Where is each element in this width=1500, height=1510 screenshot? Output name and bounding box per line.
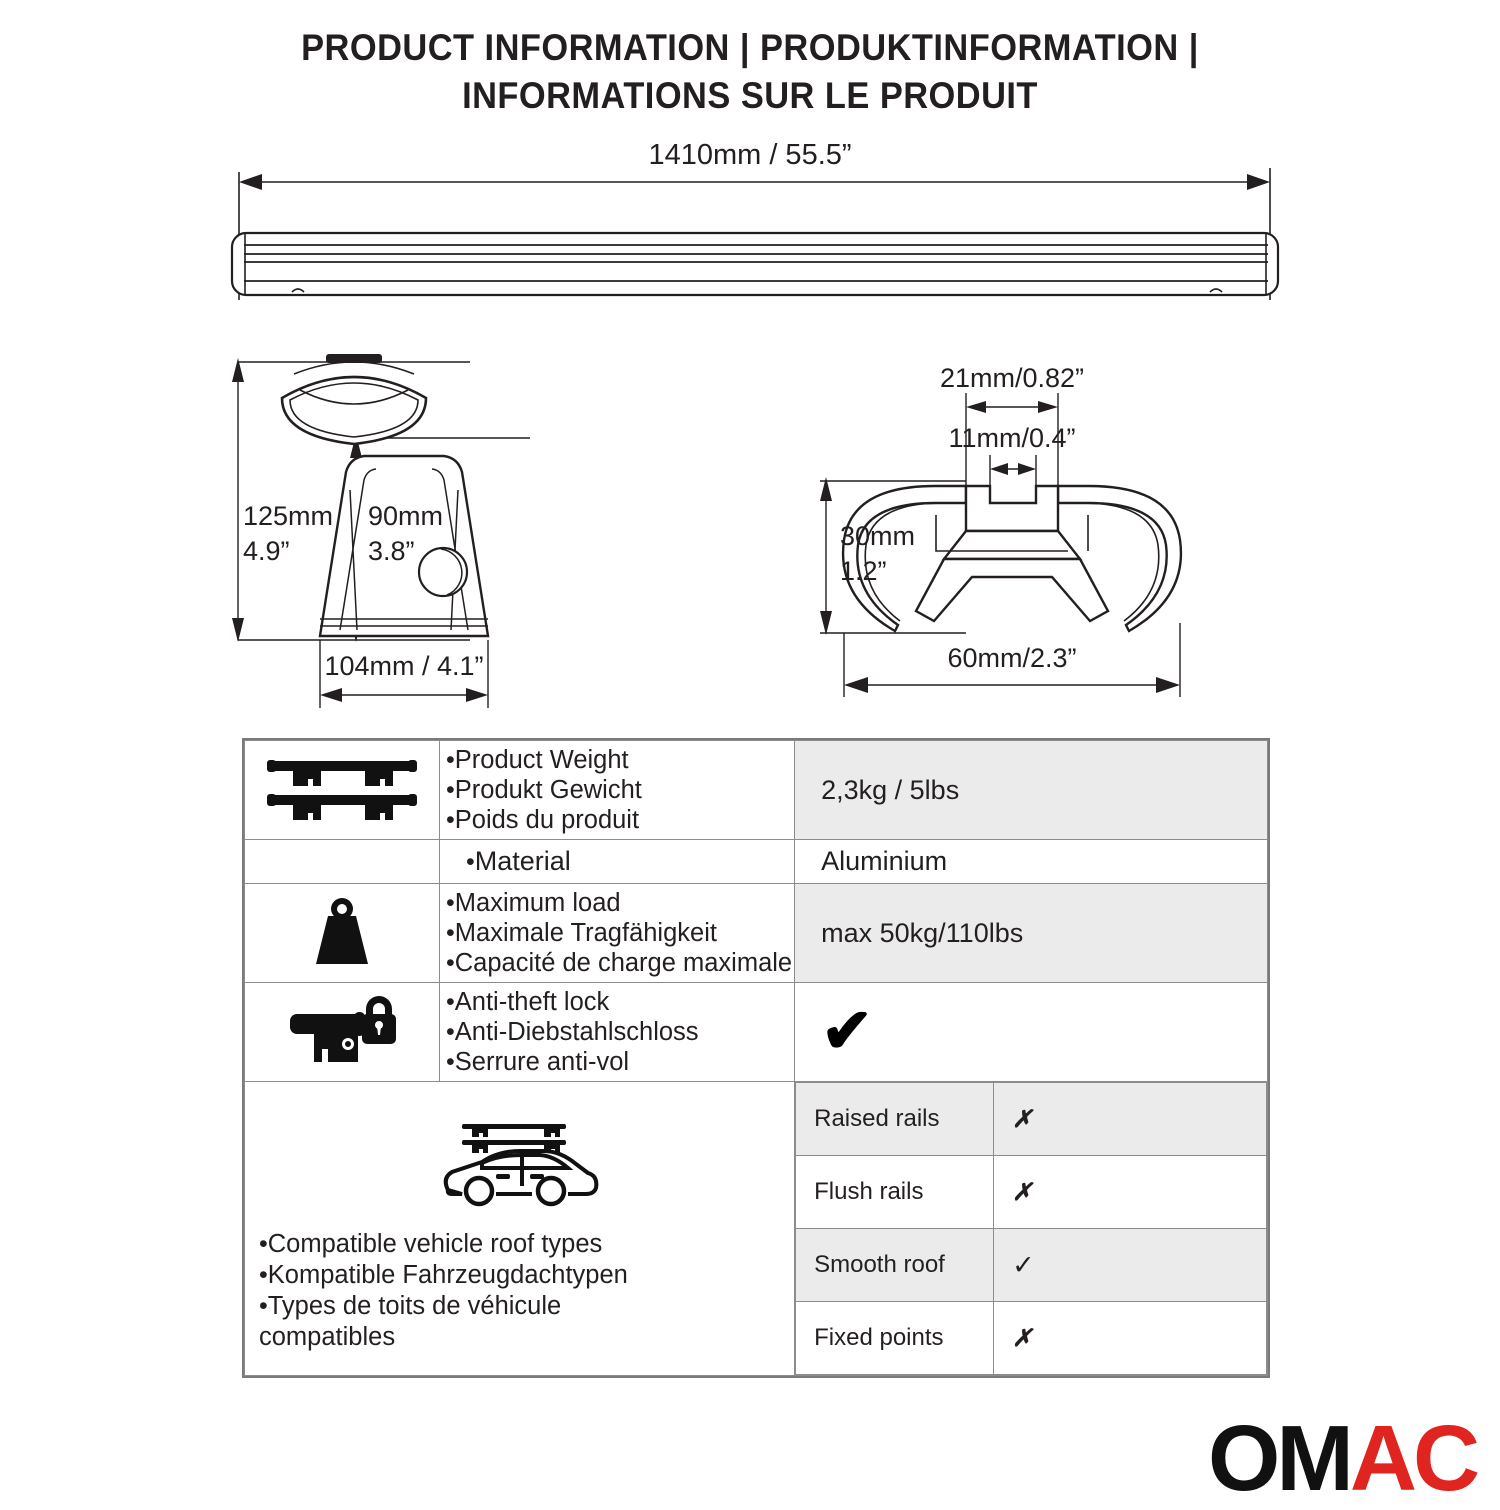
foot-inner-height-inch-label: 3.8” [368,536,415,566]
label-text: Product Weight [455,746,629,774]
roof-type-mark: ✗ [994,1156,1267,1229]
roof-type-row: Raised rails ✗ [796,1083,1267,1156]
material-value: Aluminium [795,840,1268,884]
roof-types-subtable-cell: Raised rails ✗ Flush rails ✗ Smooth roof… [795,1082,1268,1376]
foot-front-view-drawing: 125mm 4.9” 90mm 3.8” 104mm / 4.1” [0,340,760,760]
lock-icon-cell [245,983,440,1082]
logo-text-red: AC [1350,1406,1476,1510]
label-text: Kompatible Fahrzeugdachtypen [268,1261,628,1289]
omac-logo: OMAC [1208,1412,1476,1505]
roof-type-name: Raised rails [796,1083,994,1156]
table-row: •Material Aluminium [245,840,1268,884]
roof-type-row: Flush rails ✗ [796,1156,1267,1229]
roof-type-name: Smooth roof [796,1229,994,1302]
roof-type-row: Fixed points ✗ [796,1302,1267,1375]
crossbars-icon-cell [245,741,440,840]
table-row: •Product Weight •Produkt Gewicht •Poids … [245,741,1268,840]
check-icon: ✓ [1012,1250,1035,1280]
label-text: Maximum load [455,889,621,917]
cross-icon: ✗ [1012,1106,1032,1133]
material-labels-cell: •Material [440,840,795,884]
roof-type-mark: ✗ [994,1302,1267,1375]
bar-length-drawing: 1410mm / 55.5” [0,0,1500,330]
maxload-labels-cell: •Maximum load •Maximale Tragfähigkeit •C… [440,884,795,983]
table-row: •Maximum load •Maximale Tragfähigkeit •C… [245,884,1268,983]
bar-length-label: 1410mm / 55.5” [648,139,851,171]
label-text: Capacité de charge maximale [455,949,792,977]
label-text: Anti-Diebstahlschloss [455,1018,699,1046]
arrow-left-icon-3 [320,688,342,702]
label-text: Produkt Gewicht [455,776,642,804]
roof-type-row: Smooth roof ✓ [796,1229,1267,1302]
roof-type-name: Flush rails [796,1156,994,1229]
roof-types-labels-cell: •Compatible vehicle roof types •Kompatib… [245,1082,795,1376]
profile-height-mm-label: 30mm [840,521,915,551]
label-text: Maximale Tragfähigkeit [455,919,717,947]
arrow-down-icon [232,618,244,642]
foot-width-label: 104mm / 4.1” [324,651,483,681]
technical-drawings: 1410mm / 55.5” [0,0,1500,730]
weight-icon [305,894,379,968]
arrow-left-icon [239,174,262,190]
profile-slot-inner-label: 11mm/0.4” [948,423,1075,453]
arrow-right-icon [1247,174,1270,190]
label-text: Poids du produit [455,806,639,834]
cross-icon: ✗ [1012,1179,1032,1206]
car-with-rack-icon [436,1118,604,1210]
cross-icon: ✗ [1012,1325,1032,1352]
foot-inner-height-mm-label: 90mm [368,501,443,531]
table-row: •Anti-theft lock •Anti-Diebstahlschloss … [245,983,1268,1082]
logo-text-black: OM [1208,1406,1350,1510]
label-text: Anti-theft lock [455,988,609,1016]
label-text: Serrure anti-vol [455,1048,629,1076]
label-text: Types de toits de véhicule [268,1292,561,1320]
weight-labels-cell: •Product Weight •Produkt Gewicht •Poids … [440,741,795,840]
table-row: •Compatible vehicle roof types •Kompatib… [245,1082,1268,1376]
lock-labels-cell: •Anti-theft lock •Anti-Diebstahlschloss … [440,983,795,1082]
roof-types-table: Raised rails ✗ Flush rails ✗ Smooth roof… [795,1082,1267,1375]
weight-value: 2,3kg / 5lbs [795,741,1268,840]
profile-cross-section-drawing: 21mm/0.82” 11mm/0.4” 30mm 1.2” 60mm/2.3” [790,355,1500,755]
foot-height-mm-label: 125mm [243,501,333,531]
foot-height-inch-label: 4.9” [243,536,290,566]
label-text: compatibles [259,1323,395,1351]
check-icon: ✔ [821,1001,873,1063]
label-text: Compatible vehicle roof types [268,1230,603,1258]
weight-icon-cell [245,884,440,983]
roof-type-name: Fixed points [796,1302,994,1375]
lock-value-cell: ✔ [795,983,1268,1082]
arrow-right-icon-3 [466,688,488,702]
profile-width-label: 60mm/2.3” [947,643,1076,673]
material-icon-cell [245,840,440,884]
product-spec-table: •Product Weight •Produkt Gewicht •Poids … [242,738,1270,1378]
crossbars-icon [267,755,417,821]
lock-icon [286,992,398,1068]
roof-type-mark: ✓ [994,1229,1267,1302]
profile-height-inch-label: 1.2” [840,556,887,586]
profile-slot-outer-label: 21mm/0.82” [940,363,1084,393]
roof-type-mark: ✗ [994,1083,1267,1156]
maxload-value: max 50kg/110lbs [795,884,1268,983]
label-text: Material [475,846,571,876]
